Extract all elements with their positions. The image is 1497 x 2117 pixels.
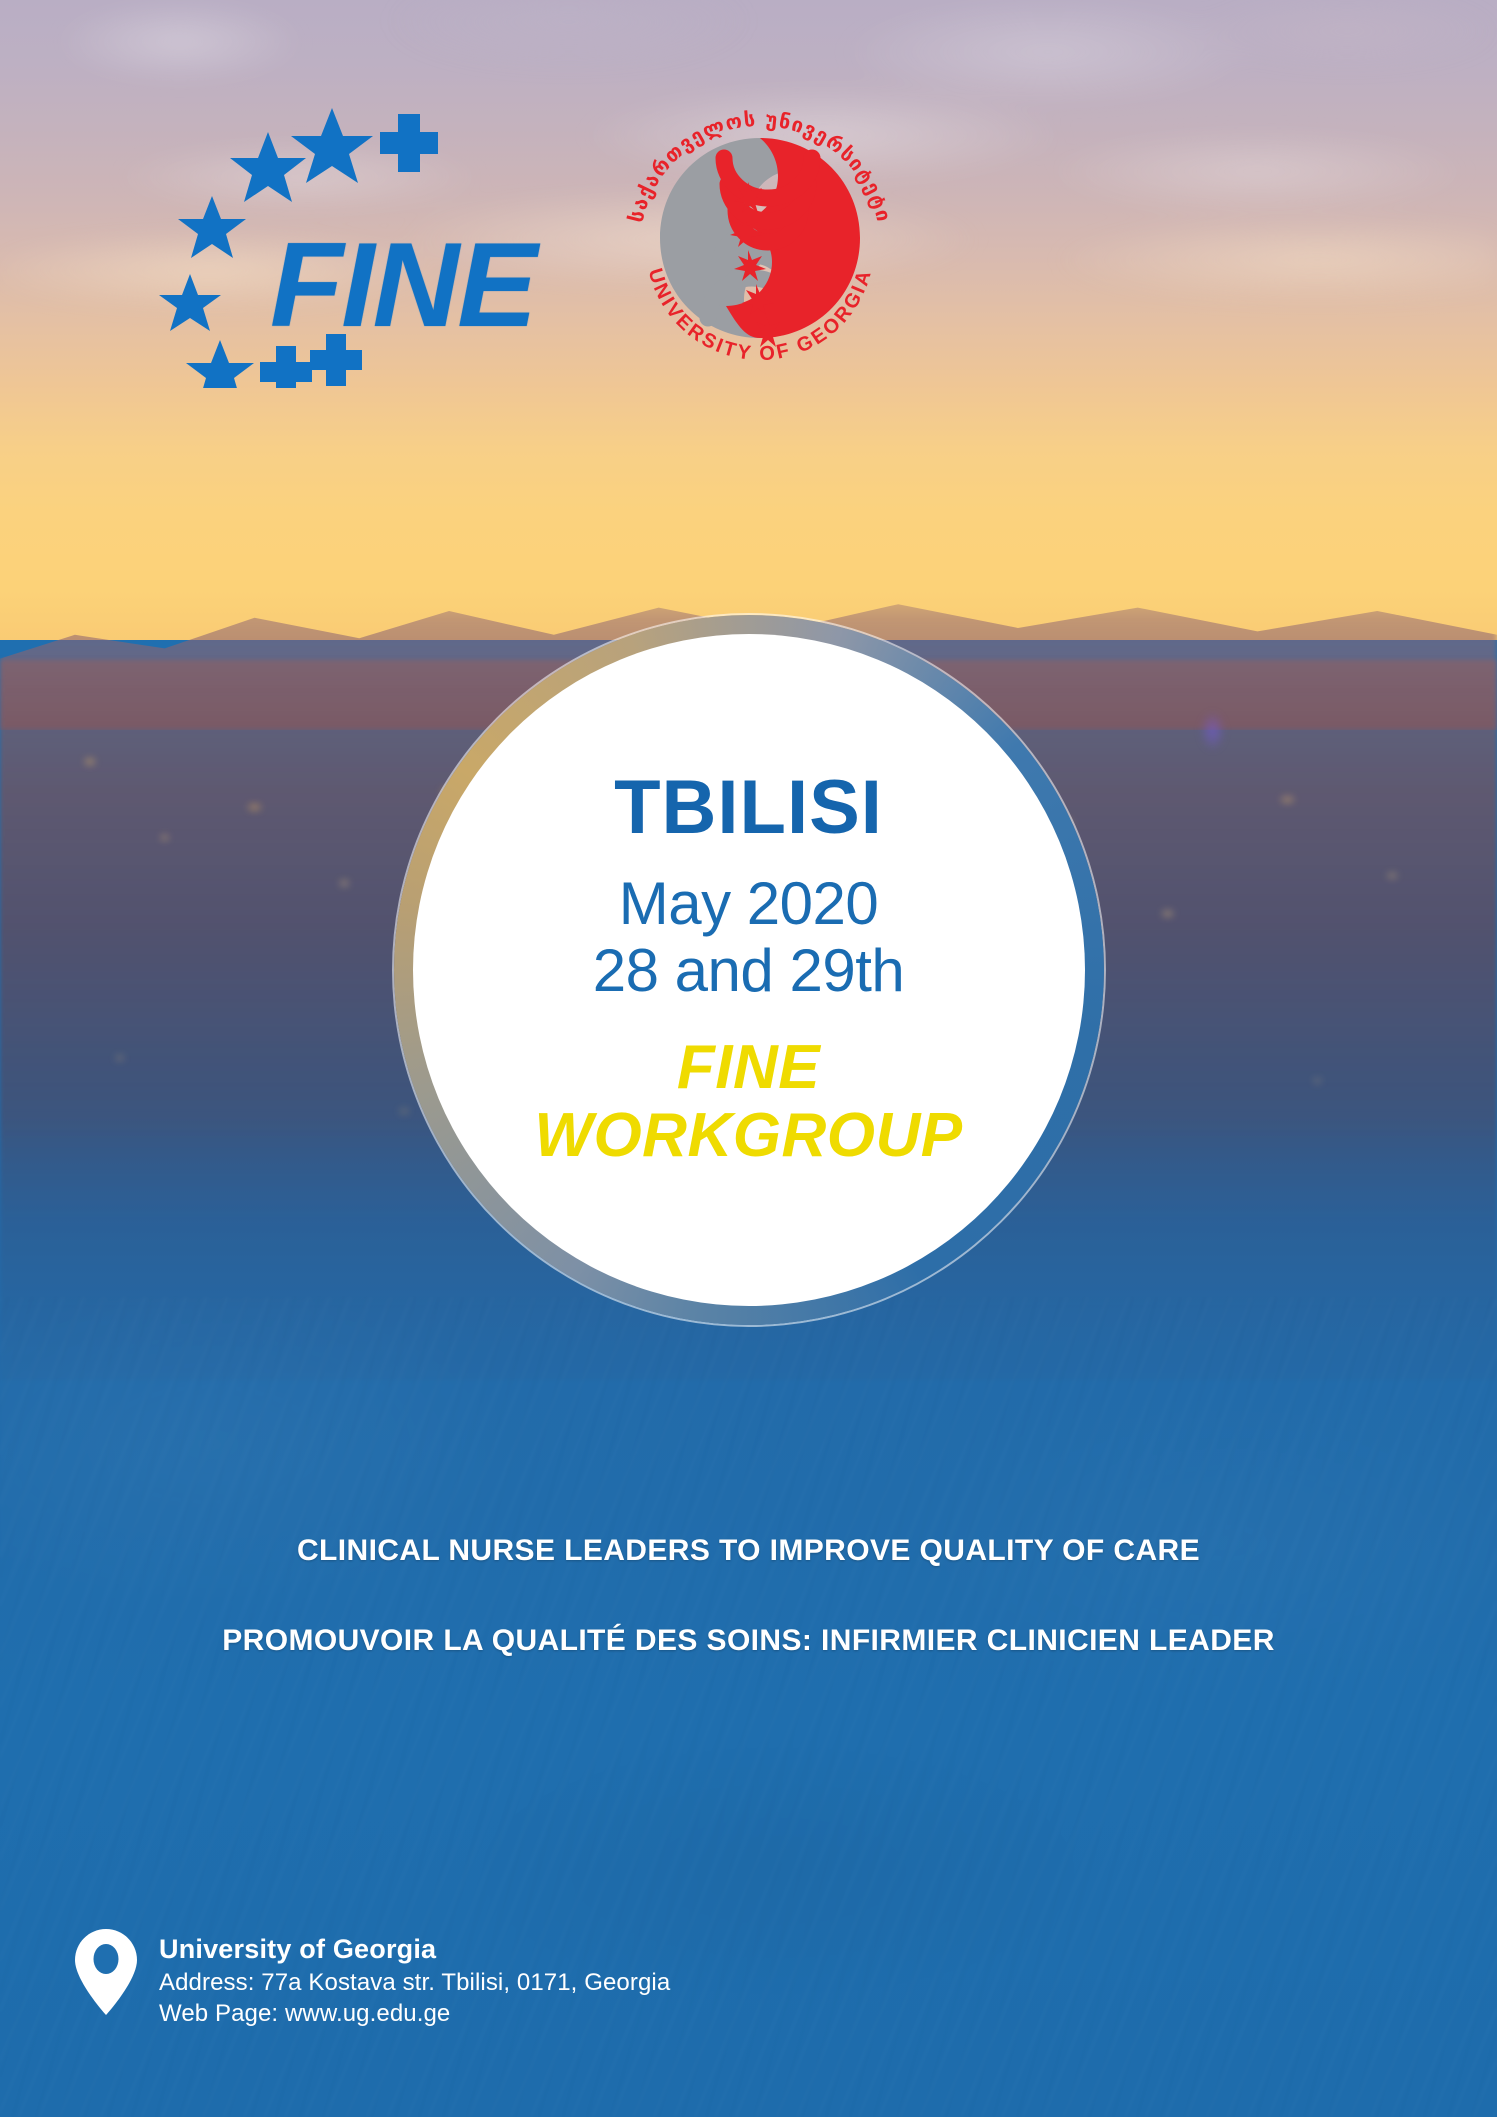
city-title: TBILISI <box>614 770 883 846</box>
footer-address: Address: 77a Kostava str. Tbilisi, 0171,… <box>159 1967 670 1998</box>
event-name-line-2: WORKGROUP <box>534 1102 962 1170</box>
circle-content: TBILISI May 2020 28 and 29th FINE WORKGR… <box>394 615 1104 1325</box>
headline-french: PROMOUVOIR LA QUALITÉ DES SOINS: INFIRMI… <box>0 1623 1497 1659</box>
event-name: FINE WORKGROUP <box>534 1034 962 1170</box>
headline-english: CLINICAL NURSE LEADERS TO IMPROVE QUALIT… <box>0 1533 1497 1569</box>
headline-block: CLINICAL NURSE LEADERS TO IMPROVE QUALIT… <box>0 1533 1497 1659</box>
footer-organisation: University of Georgia <box>159 1933 670 1967</box>
footer-text: University of Georgia Address: 77a Kosta… <box>159 1917 670 2029</box>
university-of-georgia-logo: საქართველოს უნივერსიტეტი UNIVERSITY OF G… <box>600 78 920 398</box>
fine-wordmark: FINE <box>270 216 535 354</box>
logo-row: FINE <box>0 78 1497 408</box>
conference-poster: FINE <box>0 0 1497 2117</box>
fine-logo: FINE <box>150 88 540 388</box>
event-date: May 2020 28 and 29th <box>593 870 904 1004</box>
event-date-line-2: 28 and 29th <box>593 937 904 1004</box>
event-date-line-1: May 2020 <box>593 870 904 937</box>
footer-web: Web Page: www.ug.edu.ge <box>159 1998 670 2029</box>
footer-contact: University of Georgia Address: 77a Kosta… <box>75 1917 670 2029</box>
event-name-line-1: FINE <box>534 1034 962 1102</box>
location-pin-icon <box>75 1929 137 2015</box>
event-circle: TBILISI May 2020 28 and 29th FINE WORKGR… <box>394 615 1104 1325</box>
ug-emblem-icon: საქართველოს უნივერსიტეტი UNIVERSITY OF G… <box>600 78 920 398</box>
